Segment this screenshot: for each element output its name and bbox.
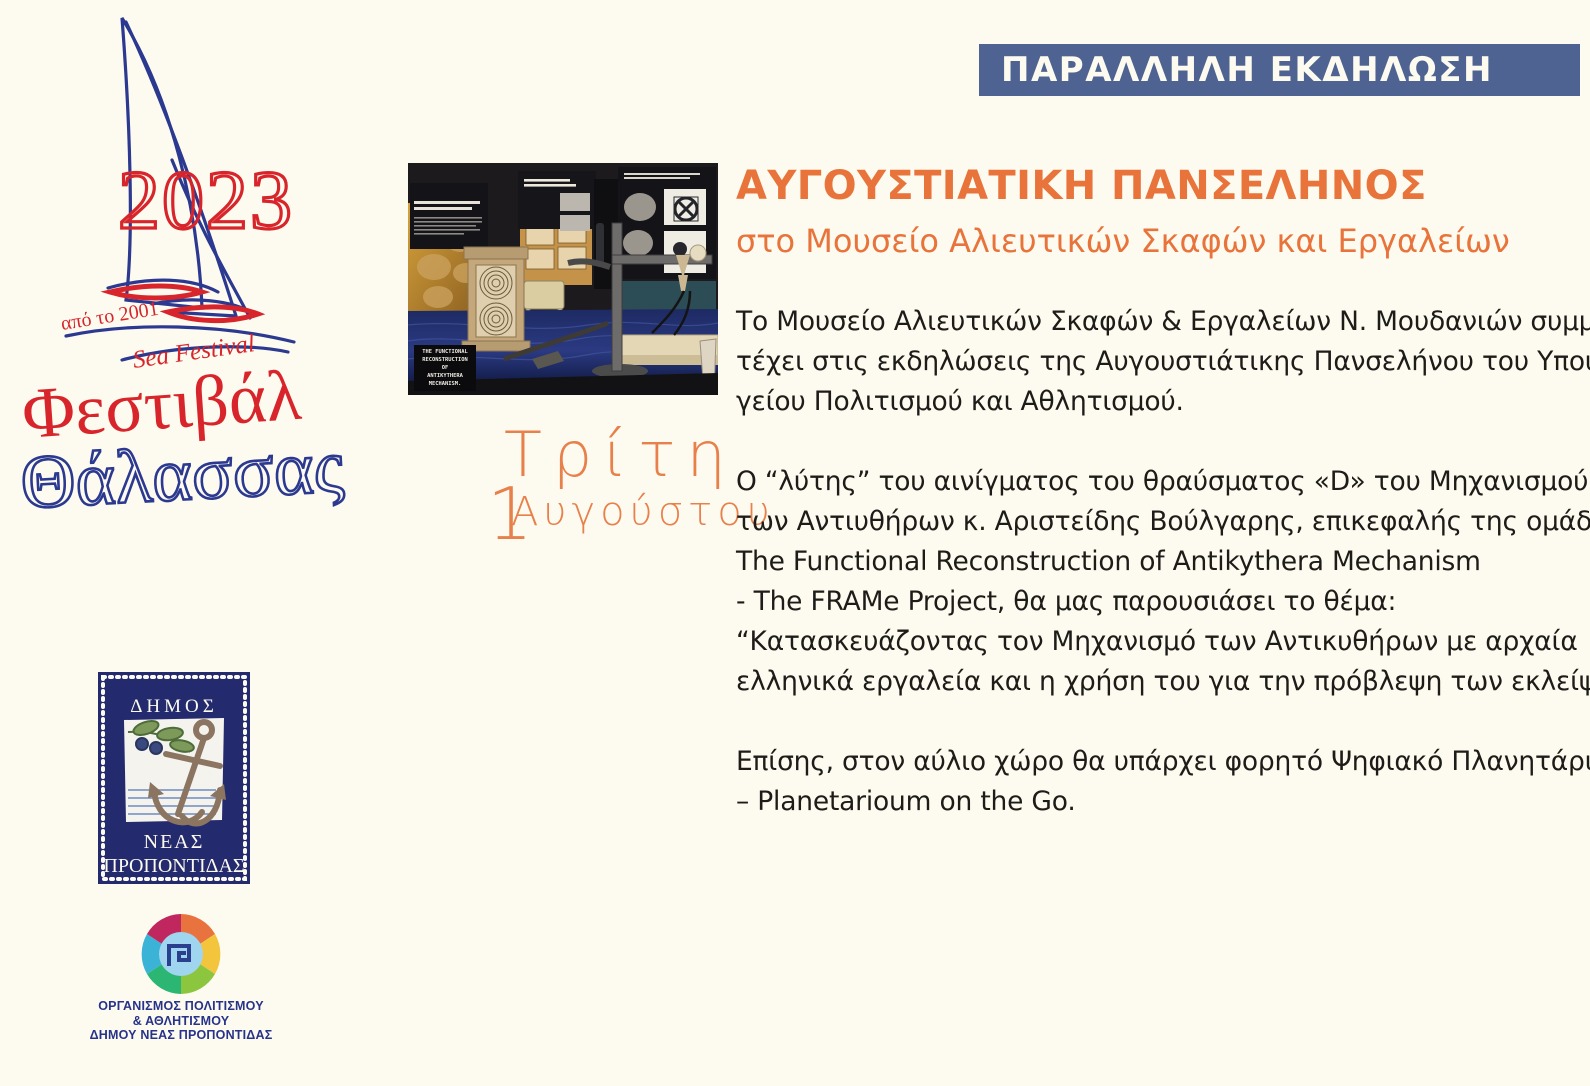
para2-line5: “Κατασκευάζοντας τον Μηχανισμό των Αντικ… [736,622,1566,662]
banner-label: ΠΑΡΑΛΛΗΛΗ ΕΚΔΗΛΩΣΗ [1001,50,1493,90]
poster-root: 2023 από το 2001 Sea Festival Φεστιβάλ Θ… [0,0,1590,1086]
festival-year: 2023 [118,154,294,247]
svg-text:Θάλασσας: Θάλασσας [22,424,346,525]
municipality-bottom-text-1: ΝΕΑΣ [144,831,205,853]
event-date: Τρίτη 1 Αυγούστου [487,424,737,544]
paragraph-gap-1 [736,422,1566,462]
photo-caption: THE FUNCTIONAL RECONSTRUCTION OF ANTIKYT… [414,345,476,391]
svg-text:OF: OF [442,365,449,371]
opa-logo: ΟΡΓΑΝΙΣΜΟΣ ΠΟΛΙΤΙΣΜΟΥ & ΑΘΛΗΤΙΣΜΟΥ ΔΗΜΟΥ… [85,910,277,1045]
para3-line2: – Planetarioum on the Go. [736,782,1566,822]
opa-line1: ΟΡΓΑΝΙΣΜΟΣ ΠΟΛΙΤΙΣΜΟΥ [85,999,277,1014]
municipality-logo: ΔΗΜΟΣ ΝΕΑΣ ΠΡΟΠΟΝΤΙΔΑΣ [98,672,250,884]
opa-line2: & ΑΘΛΗΤΙΣΜΟΥ [85,1014,277,1029]
parallel-event-banner: ΠΑΡΑΛΛΗΛΗ ΕΚΔΗΛΩΣΗ [979,44,1580,96]
date-day: Τρίτη [504,424,737,486]
body-text: Το Μουσείο Αλιευτικών Σκαφών & Εργαλείων… [736,302,1566,822]
para1-line3: γείου Πολιτισμού και Αθλητισμού. [736,382,1566,422]
para2-line1: Ο “λύτης” του αινίγματος του θραύσματος … [736,462,1566,502]
para1-line2: τέχει στις εκδηλώσεις της Αυγουστιάτικης… [736,342,1566,382]
opa-line3: ΔΗΜΟΥ ΝΕΑΣ ΠΡΟΠΟΝΤΙΔΑΣ [85,1028,277,1043]
municipality-bottom-text-2: ΠΡΟΠΟΝΤΙΔΑΣ [103,855,244,877]
para3-line1: Επίσης, στον αύλιο χώρο θα υπάρχει φορητ… [736,742,1566,782]
event-photo: THE FUNCTIONAL RECONSTRUCTION OF ANTIKYT… [408,163,718,395]
para2-line2: των Αντιυθήρων κ. Αριστείδης Βούλγαρης, … [736,502,1566,542]
svg-text:RECONSTRUCTION: RECONSTRUCTION [422,357,467,363]
para1-line1: Το Μουσείο Αλιευτικών Σκαφών & Εργαλείων… [736,302,1566,342]
para2-line6: ελληνικά εργαλεία και η χρήση του για τη… [736,662,1566,702]
page-title: ΑΥΓΟΥΣΤΙΑΤΙΚΗ ΠΑΝΣΕΛΗΝΟΣ [736,163,1427,209]
para2-line4: - The FRAMe Project, θα μας παρουσιάσει … [736,582,1566,622]
para2-line3: The Functional Reconstruction of Antikyt… [736,542,1566,582]
svg-text:THE FUNCTIONAL: THE FUNCTIONAL [422,349,468,355]
svg-text:ANTIKYTHERA: ANTIKYTHERA [427,373,463,379]
page-subtitle: στο Μουσείο Αλιευτικών Σκαφών και Εργαλε… [736,222,1510,260]
svg-text:MECHANISM.: MECHANISM. [429,381,461,387]
paragraph-gap-2 [736,702,1566,742]
municipality-top-text: ΔΗΜΟΣ [130,696,218,717]
festival-logo: 2023 από το 2001 Sea Festival Φεστιβάλ Θ… [22,0,382,540]
opa-emblem-icon [85,910,277,998]
